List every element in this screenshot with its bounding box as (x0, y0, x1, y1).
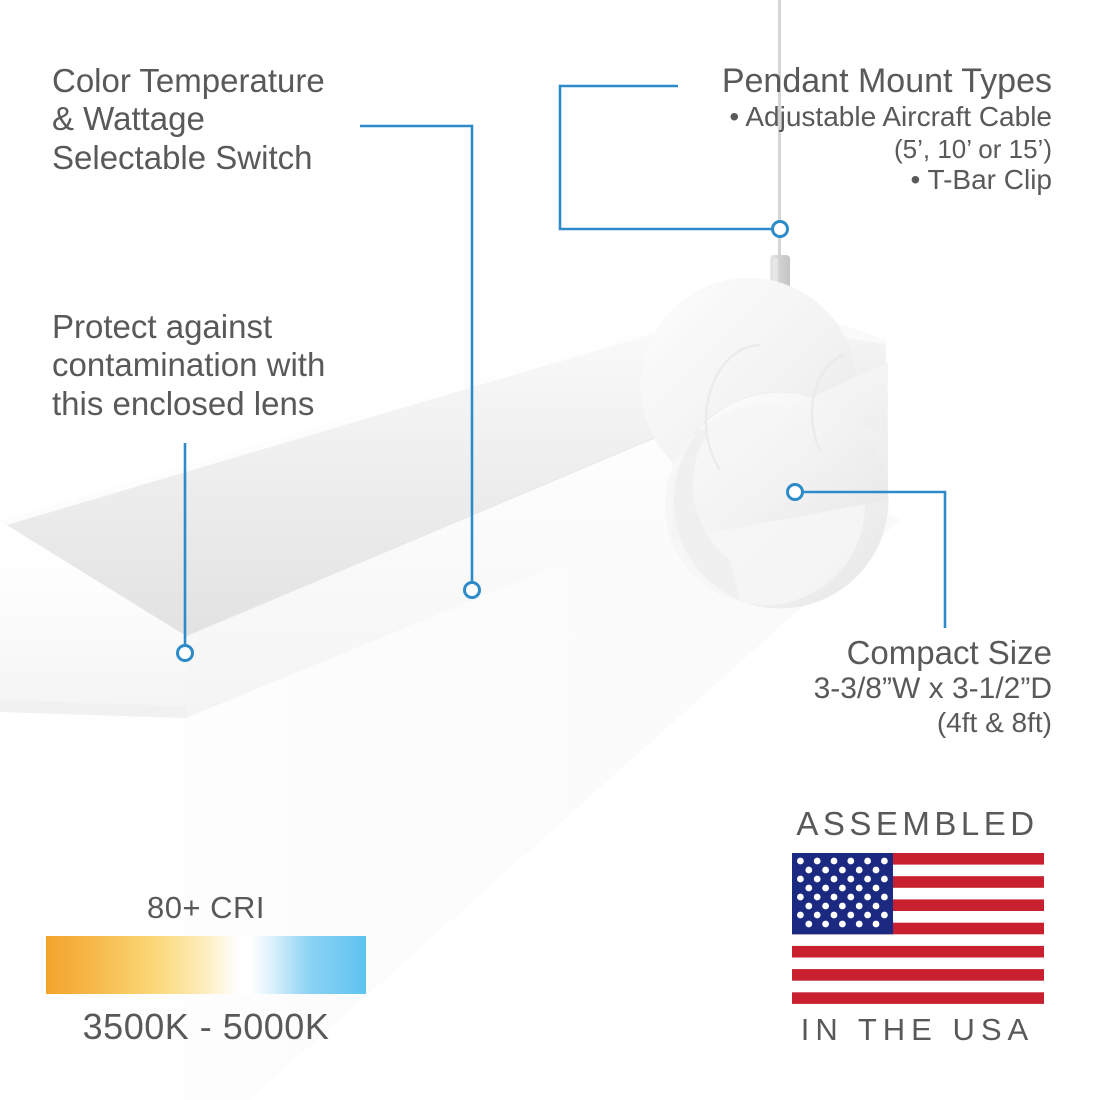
cri-label: 80+ CRI (46, 890, 366, 926)
assembled-label: ASSEMBLED (780, 805, 1055, 843)
assembled-in-usa-badge: ASSEMBLED (780, 805, 1055, 1048)
kelvin-gradient-bar (46, 936, 366, 994)
leader-size (788, 485, 946, 629)
callout-switch: Color Temperature & Wattage Selectable S… (52, 62, 325, 177)
callout-switch-line-3: Selectable Switch (52, 139, 325, 177)
usa-flag-icon (792, 853, 1044, 1004)
callout-switch-line-2: & Wattage (52, 100, 325, 138)
callout-enclosed-lens: Protect against contamination with this … (52, 308, 325, 423)
callout-pendant-title: Pendant Mount Types (722, 62, 1052, 101)
callout-lens-line-3: this enclosed lens (52, 385, 325, 423)
leader-lens (178, 443, 193, 661)
callout-size-lengths: (4ft & 8ft) (814, 707, 1052, 739)
infographic-canvas: Color Temperature & Wattage Selectable S… (0, 0, 1100, 1100)
callout-lens-line-1: Protect against (52, 308, 325, 346)
callout-size-dimensions: 3-3/8”W x 3-1/2”D (814, 672, 1052, 707)
in-the-usa-label: IN THE USA (780, 1012, 1055, 1048)
leader-switch (360, 126, 480, 598)
cri-kelvin-badge: 80+ CRI 3500K - 5000K (46, 890, 366, 1048)
callout-pendant-bullet-1: • Adjustable Aircraft Cable (722, 101, 1052, 133)
callout-pendant-bullet-1-detail: (5’, 10’ or 15’) (722, 134, 1052, 164)
callout-switch-line-1: Color Temperature (52, 62, 325, 100)
callout-pendant-bullet-2: • T-Bar Clip (722, 164, 1052, 196)
callout-size-title: Compact Size (814, 634, 1052, 672)
kelvin-range-label: 3500K - 5000K (46, 1006, 366, 1048)
callout-compact-size: Compact Size 3-3/8”W x 3-1/2”D (4ft & 8f… (814, 634, 1052, 740)
callout-lens-line-2: contamination with (52, 346, 325, 384)
callout-pendant-mount: Pendant Mount Types • Adjustable Aircraf… (722, 62, 1052, 197)
